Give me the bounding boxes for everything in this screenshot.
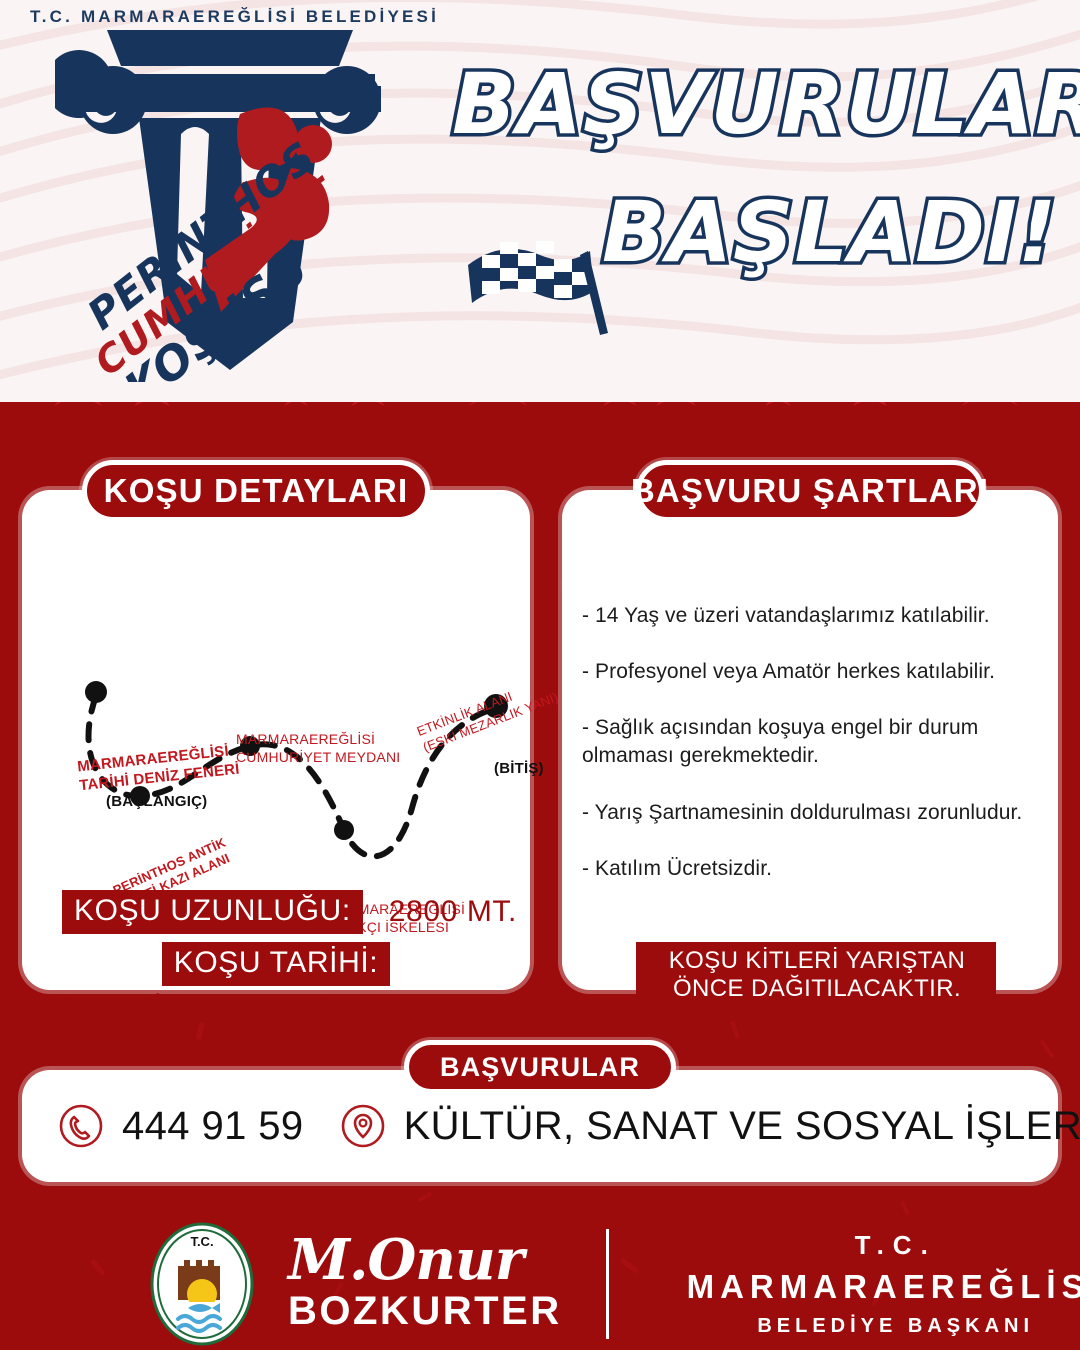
- route-map: MARMARAEREĞLİSİ TARİHİ DENİZ FENERİ (BAŞ…: [44, 608, 552, 896]
- conditions-list: - 14 Yaş ve üzeri vatandaşlarımız katıla…: [582, 602, 1042, 911]
- route-label-finish-sub: (BİTİŞ): [494, 760, 544, 779]
- badge-run-details: KOŞU DETAYLARI: [82, 460, 430, 522]
- date-label: KOŞU TARİHİ:: [162, 942, 390, 986]
- municipality-line: T.C. MARMARAEREĞLİSİ BELEDİYESİ: [30, 7, 439, 27]
- signature-block: M.Onur BOZKURTER: [288, 1233, 562, 1335]
- distance-label: KOŞU UZUNLUĞU:: [62, 890, 363, 934]
- footer-section: T.C. MARMARAEREĞLİSİ BELEDİYESİ M.Onur B…: [0, 1217, 1080, 1350]
- mayor-surname: BOZKURTER: [288, 1289, 562, 1334]
- kit-distribution-note: KOŞU KİTLERİ YARIŞTAN ÖNCE DAĞITILACAKTI…: [636, 942, 996, 1011]
- main-red-panel: MARMARAEREĞLİSİ TARİHİ DENİZ FENERİ (BAŞ…: [0, 402, 1080, 1350]
- mayor-signature-name: M.Onur: [288, 1233, 562, 1288]
- phone-number[interactable]: 444 91 59: [122, 1104, 304, 1149]
- title-line-1: BAŞVURULAR: [452, 55, 1080, 153]
- condition-item: - Yarış Şartnamesinin doldurulması zorun…: [582, 799, 1042, 827]
- location-pin-circle-icon[interactable]: [340, 1103, 386, 1149]
- route-label-square: MARMARAEREĞLİSİ CUMHURİYET MEYDANI: [236, 730, 400, 766]
- condition-item: - Sağlık açısından koşuya engel bir duru…: [582, 714, 1042, 770]
- header-section: T.C. MARMARAEREĞLİSİ BELEDİYESİ PERINTHO…: [0, 0, 1080, 402]
- department-name: KÜLTÜR, SANAT VE SOSYAL İŞLER MD.: [404, 1104, 1080, 1149]
- distance-value: 2800 MT.: [389, 895, 517, 929]
- run-details-card: MARMARAEREĞLİSİ TARİHİ DENİZ FENERİ (BAŞ…: [22, 490, 530, 990]
- vertical-divider: [606, 1229, 609, 1339]
- distance-row: KOŞU UZUNLUĞU: 2800 MT.: [62, 890, 517, 934]
- office-title-block: T.C. MARMARAEREĞLİSİ BELEDİYE BAŞKANI: [687, 1230, 1080, 1338]
- office-line-2: MARMARAEREĞLİSİ: [687, 1268, 1080, 1306]
- phone-circle-icon[interactable]: [58, 1103, 104, 1149]
- condition-item: - Katılım Ücretsizdir.: [582, 855, 1042, 883]
- date-label-row: KOŞU TARİHİ:: [22, 942, 530, 986]
- route-label-start-sub: (BAŞLANGIÇ): [106, 793, 207, 812]
- svg-text:T.C.: T.C.: [190, 1234, 213, 1249]
- office-line-3: BELEDİYE BAŞKANI: [687, 1315, 1080, 1338]
- perinthos-run-logo: PERINTHOS CUMHURİYET KOŞUSU: [55, 22, 405, 382]
- municipality-seal-icon: T.C. MARMARAEREĞLİSİ BELEDİYESİ: [148, 1220, 256, 1348]
- title-line-2: BAŞLADI!: [602, 183, 1057, 281]
- conditions-card: - 14 Yaş ve üzeri vatandaşlarımız katıla…: [562, 490, 1058, 990]
- office-line-1: T.C.: [687, 1230, 1080, 1261]
- checkered-flag-icon: [460, 225, 610, 335]
- badge-application-conditions: BAŞVURU ŞARTLARI: [636, 460, 984, 522]
- condition-item: - Profesyonel veya Amatör herkes katılab…: [582, 658, 1042, 686]
- badge-applications: BAŞVURULAR: [404, 1040, 676, 1094]
- poster-title: BAŞVURULAR BAŞLADI!: [440, 55, 1060, 325]
- condition-item: - 14 Yaş ve üzeri vatandaşlarımız katıla…: [582, 602, 1042, 630]
